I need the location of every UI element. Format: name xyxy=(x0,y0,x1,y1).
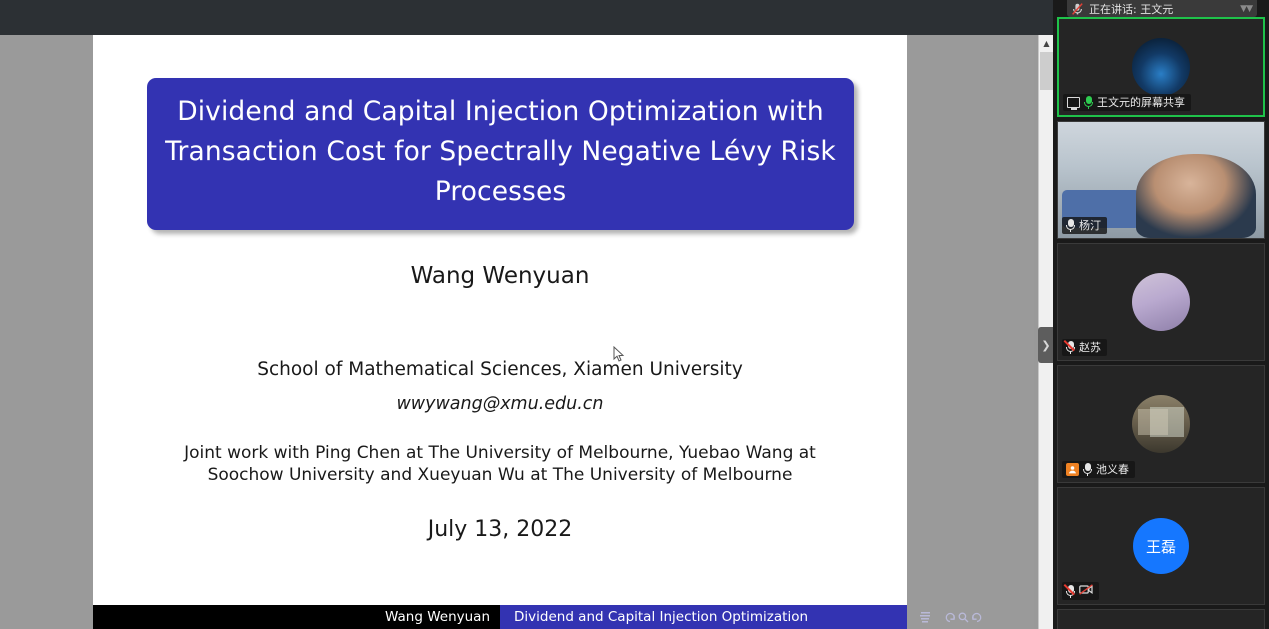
monitor-icon xyxy=(1067,97,1080,108)
mic-muted-icon xyxy=(1072,3,1083,15)
mic-muted-icon xyxy=(1066,341,1075,354)
joint-work-line-1: Joint work with Ping Chen at The Univers… xyxy=(93,442,907,464)
slide-title: Dividend and Capital Injection Optimizat… xyxy=(165,92,836,212)
video-tile[interactable] xyxy=(1057,609,1265,629)
avatar xyxy=(1132,395,1190,453)
slide-footline: Wang Wenyuan Dividend and Capital Inject… xyxy=(93,605,907,629)
app-top-bar xyxy=(0,0,1053,35)
chevron-collapse-icon[interactable]: ▼▼ xyxy=(1240,4,1252,14)
joint-work-line-2: Soochow University and Xueyuan Wu at The… xyxy=(93,464,907,486)
slide-affiliation: School of Mathematical Sciences, Xiamen … xyxy=(93,359,907,380)
avatar xyxy=(1132,273,1190,331)
footline-title: Dividend and Capital Injection Optimizat… xyxy=(500,605,907,629)
slide-date: July 13, 2022 xyxy=(93,517,907,542)
mic-active-icon xyxy=(1083,463,1092,476)
participant-namebar: 杨汀 xyxy=(1062,217,1107,234)
avatar xyxy=(1132,38,1190,96)
mic-active-icon xyxy=(1066,219,1075,232)
history-controls[interactable] xyxy=(945,612,982,623)
collapse-filmstrip-handle[interactable]: ❯ xyxy=(1038,327,1054,363)
participant-namebar: 池义春 xyxy=(1062,461,1135,478)
active-speaker-label: 正在讲话: 王文元 xyxy=(1089,1,1173,17)
participant-name: 赵苏 xyxy=(1079,341,1101,354)
mouse-cursor xyxy=(613,346,625,363)
participant-name: 王文元的屏幕共享 xyxy=(1097,96,1185,109)
video-tile[interactable]: 杨汀 xyxy=(1057,121,1265,239)
document-list-icon[interactable] xyxy=(919,611,931,623)
mic-active-icon xyxy=(1084,96,1093,109)
video-off-icon xyxy=(1079,584,1093,598)
video-filmstrip: 正在讲话: 王文元 ▼▼ 王文元的屏幕共享 xyxy=(1053,0,1269,629)
video-tile[interactable]: 池义春 xyxy=(1057,365,1265,483)
participant-name: 池义春 xyxy=(1096,463,1129,476)
avatar-photo xyxy=(1132,395,1190,453)
person-shape xyxy=(1136,154,1256,238)
scroll-up-button[interactable]: ▲ xyxy=(1039,35,1054,51)
slide-author: Wang Wenyuan xyxy=(93,263,907,289)
redo-arrow-icon[interactable] xyxy=(971,612,982,623)
participant-namebar: 王文元的屏幕共享 xyxy=(1063,94,1191,111)
participant-namebar xyxy=(1062,582,1099,600)
slide-email: wwywang@xmu.edu.cn xyxy=(93,394,907,414)
host-badge-icon xyxy=(1066,463,1079,476)
slide-title-box: Dividend and Capital Injection Optimizat… xyxy=(147,78,854,230)
active-speaker-banner: 正在讲话: 王文元 ▼▼ xyxy=(1067,0,1257,17)
mic-muted-icon xyxy=(1066,585,1075,598)
video-tile[interactable]: 王磊 xyxy=(1057,487,1265,605)
footline-author: Wang Wenyuan xyxy=(93,605,500,629)
video-tile[interactable]: 王文元的屏幕共享 xyxy=(1057,17,1265,117)
window-shape xyxy=(1138,409,1168,435)
screen-root: Dividend and Capital Injection Optimizat… xyxy=(0,0,1269,629)
video-tile[interactable]: 赵苏 xyxy=(1057,243,1265,361)
avatar-initials: 王磊 xyxy=(1146,536,1176,557)
slide-joint-work: Joint work with Ping Chen at The Univers… xyxy=(93,442,907,486)
scrollbar-thumb[interactable] xyxy=(1040,52,1053,90)
participant-namebar: 赵苏 xyxy=(1062,339,1107,356)
search-icon[interactable] xyxy=(958,612,969,623)
pdf-slide[interactable]: Dividend and Capital Injection Optimizat… xyxy=(93,35,907,629)
undo-arrow-icon[interactable] xyxy=(945,612,956,623)
participant-name: 杨汀 xyxy=(1079,219,1101,232)
avatar: 王磊 xyxy=(1133,518,1189,574)
